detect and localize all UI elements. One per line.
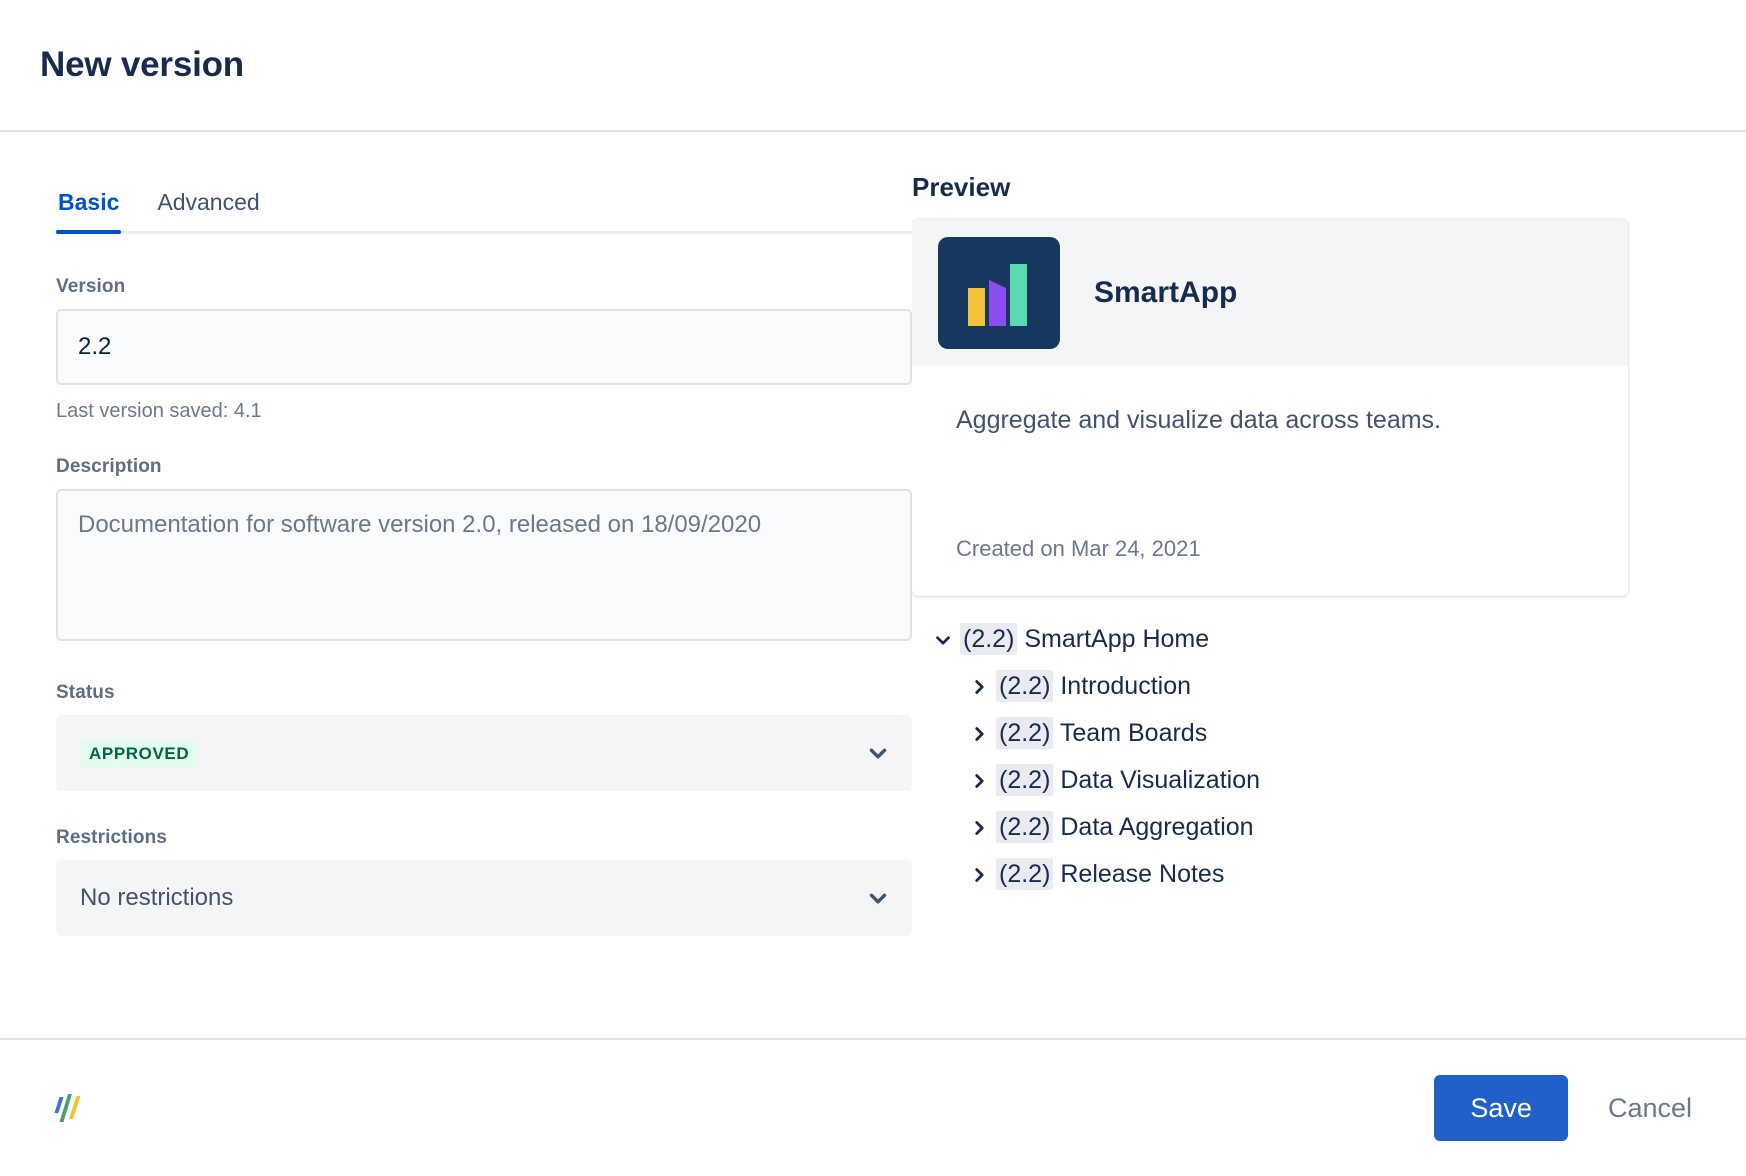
- description-textarea[interactable]: [56, 489, 912, 641]
- tree-item-label: (2.2) Data Visualization: [996, 766, 1260, 795]
- tree-item-label: (2.2) Introduction: [996, 672, 1191, 701]
- tree-row[interactable]: (2.2) Data Visualization: [926, 757, 1708, 804]
- tab-advanced[interactable]: Advanced: [155, 190, 261, 231]
- tree-row[interactable]: (2.2) Data Aggregation: [926, 804, 1708, 851]
- tree-item-title: SmartApp Home: [1024, 625, 1209, 653]
- tree-item-title: Introduction: [1060, 672, 1191, 700]
- preview-card-header: SmartApp: [912, 219, 1628, 366]
- cancel-button[interactable]: Cancel: [1594, 1075, 1706, 1141]
- last-version-saved-text: Last version saved: 4.1: [56, 400, 872, 423]
- tree-row[interactable]: (2.2) Team Boards: [926, 710, 1708, 757]
- restrictions-value: No restrictions: [80, 884, 864, 912]
- status-label: Status: [56, 682, 872, 704]
- preview-created-date: Created on Mar 24, 2021: [956, 458, 1584, 562]
- preview-app-name: SmartApp: [1094, 276, 1237, 310]
- dialog-header: New version: [0, 0, 1746, 132]
- preview-pane: Preview SmartApp Aggregate and visualize…: [912, 132, 1746, 1038]
- tree-version-chip: (2.2): [996, 670, 1053, 702]
- page-title: New version: [40, 45, 244, 85]
- tree-item-title: Data Visualization: [1060, 766, 1260, 794]
- tree-item-label: (2.2) Release Notes: [996, 860, 1224, 889]
- chevron-right-icon[interactable]: [962, 676, 996, 698]
- tree-item-title: Data Aggregation: [1060, 813, 1253, 841]
- chevron-right-icon[interactable]: [962, 770, 996, 792]
- bar-chart-icon-svg: [968, 260, 1030, 326]
- status-select[interactable]: APPROVED: [56, 715, 912, 791]
- brand-slashes-logo-svg: [46, 1085, 92, 1131]
- page-tree: (2.2) SmartApp Home (2.2) Introduction (…: [912, 616, 1708, 898]
- chevron-down-icon: [864, 739, 892, 767]
- tree-version-chip: (2.2): [996, 811, 1053, 843]
- chevron-right-icon[interactable]: [962, 723, 996, 745]
- tree-version-chip: (2.2): [996, 764, 1053, 796]
- status-value: APPROVED: [80, 738, 864, 768]
- tree-item-title: Release Notes: [1060, 860, 1224, 888]
- status-badge: APPROVED: [80, 739, 198, 768]
- tree-item-label: (2.2) SmartApp Home: [960, 625, 1209, 654]
- chevron-right-icon[interactable]: [962, 864, 996, 886]
- description-label: Description: [56, 456, 872, 478]
- tree-version-chip: (2.2): [996, 858, 1053, 890]
- save-button[interactable]: Save: [1434, 1075, 1568, 1141]
- tree-item-label: (2.2) Team Boards: [996, 719, 1207, 748]
- dialog-footer: Save Cancel: [0, 1040, 1746, 1176]
- preview-description: Aggregate and visualize data across team…: [956, 401, 1476, 439]
- chevron-down-icon[interactable]: [926, 629, 960, 651]
- tree-row[interactable]: (2.2) Introduction: [926, 663, 1708, 710]
- tree-version-chip: (2.2): [996, 717, 1053, 749]
- tree-version-chip: (2.2): [960, 623, 1017, 655]
- version-input[interactable]: [56, 309, 912, 385]
- form-pane: Basic Advanced Version Last version save…: [0, 132, 912, 1038]
- brand-slashes-logo: [46, 1085, 92, 1131]
- tree-item-label: (2.2) Data Aggregation: [996, 813, 1254, 842]
- tree-row[interactable]: (2.2) SmartApp Home: [926, 616, 1708, 663]
- restrictions-select[interactable]: No restrictions: [56, 860, 912, 936]
- tree-row[interactable]: (2.2) Release Notes: [926, 851, 1708, 898]
- preview-card: SmartApp Aggregate and visualize data ac…: [912, 219, 1628, 596]
- chevron-down-icon: [864, 884, 892, 912]
- chevron-right-icon[interactable]: [962, 817, 996, 839]
- bar-chart-icon: [938, 237, 1060, 349]
- dialog-body: Basic Advanced Version Last version save…: [0, 132, 1746, 1040]
- tree-item-title: Team Boards: [1060, 719, 1207, 747]
- new-version-dialog: New version Basic Advanced Version Last …: [0, 0, 1746, 1176]
- version-label: Version: [56, 276, 872, 298]
- tab-basic[interactable]: Basic: [56, 190, 121, 231]
- tab-bar: Basic Advanced: [56, 190, 912, 234]
- preview-heading: Preview: [912, 172, 1708, 203]
- preview-card-body: Aggregate and visualize data across team…: [912, 366, 1628, 596]
- restrictions-label: Restrictions: [56, 827, 872, 849]
